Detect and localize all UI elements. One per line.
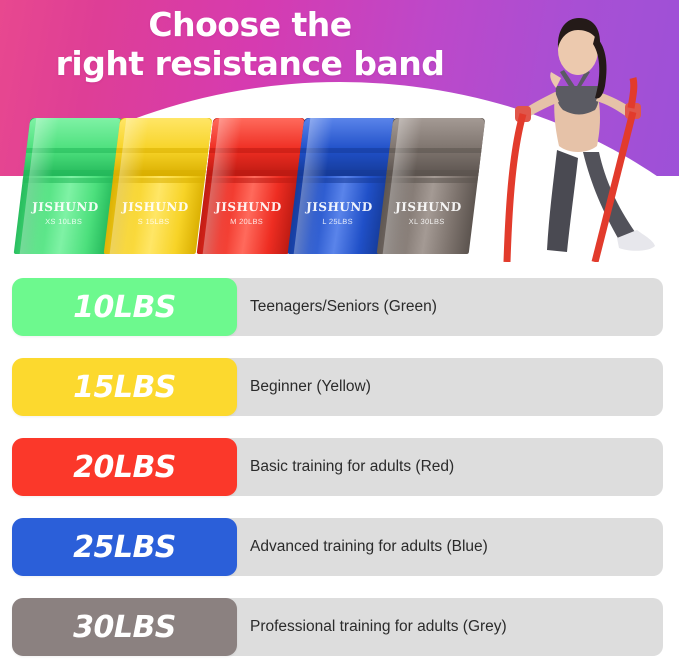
row-15lbs: 15LBSBeginner (Yellow) xyxy=(0,348,679,428)
band-roll-group: JISHUNDXS 10LBSJISHUNDS 15LBSJISHUNDM 20… xyxy=(0,102,520,262)
weight-guide-list: 10LBSTeenagers/Seniors (Green)15LBSBegin… xyxy=(0,268,679,668)
red-band-brand-label: JISHUND xyxy=(202,200,295,214)
yellow-band: JISHUNDS 15LBS xyxy=(104,118,213,254)
green-band-sheen xyxy=(19,118,60,254)
grey-band: JISHUNDXL 30LBS xyxy=(377,118,486,254)
row-30lbs-badge: 30LBS xyxy=(12,598,237,656)
hero-banner: Choose the right resistance band xyxy=(0,0,679,262)
row-10lbs-badge: 10LBS xyxy=(12,278,237,336)
page-title-line-2: right resistance band xyxy=(0,45,500,84)
red-band-size-label: M 20LBS xyxy=(200,217,292,226)
row-20lbs: 20LBSBasic training for adults (Red) xyxy=(0,428,679,508)
row-10lbs-weight-label: 10LBS xyxy=(73,290,176,325)
row-30lbs: 30LBSProfessional training for adults (G… xyxy=(0,588,679,668)
red-band: JISHUNDM 20LBS xyxy=(197,118,306,254)
page-title-line-1: Choose the xyxy=(0,6,500,45)
row-20lbs-badge: 20LBS xyxy=(12,438,237,496)
page-title: Choose the right resistance band xyxy=(0,6,500,84)
row-30lbs-weight-label: 30LBS xyxy=(73,610,176,645)
row-25lbs-description: Advanced training for adults (Blue) xyxy=(250,518,488,576)
resistance-band-infographic: Choose the right resistance band xyxy=(0,0,679,668)
row-30lbs-description: Professional training for adults (Grey) xyxy=(250,598,507,656)
grey-band-brand-label: JISHUND xyxy=(382,200,475,214)
model-photo xyxy=(483,0,673,262)
row-20lbs-weight-label: 20LBS xyxy=(73,450,176,485)
yellow-band-size-label: S 15LBS xyxy=(107,217,199,226)
row-15lbs-description: Beginner (Yellow) xyxy=(250,358,371,416)
green-band-size-label: XS 10LBS xyxy=(17,217,109,226)
row-25lbs: 25LBSAdvanced training for adults (Blue) xyxy=(0,508,679,588)
row-25lbs-weight-label: 25LBS xyxy=(73,530,176,565)
row-25lbs-badge: 25LBS xyxy=(12,518,237,576)
row-15lbs-weight-label: 15LBS xyxy=(73,370,176,405)
row-20lbs-description: Basic training for adults (Red) xyxy=(250,438,454,496)
grey-band-size-label: XL 30LBS xyxy=(380,217,472,226)
blue-band-size-label: L 25LBS xyxy=(291,217,383,226)
blue-band-brand-label: JISHUND xyxy=(293,200,386,214)
yellow-band-brand-label: JISHUND xyxy=(109,200,202,214)
green-band-brand-label: JISHUND xyxy=(19,200,112,214)
row-15lbs-badge: 15LBS xyxy=(12,358,237,416)
row-10lbs: 10LBSTeenagers/Seniors (Green) xyxy=(0,268,679,348)
row-10lbs-description: Teenagers/Seniors (Green) xyxy=(250,278,437,336)
